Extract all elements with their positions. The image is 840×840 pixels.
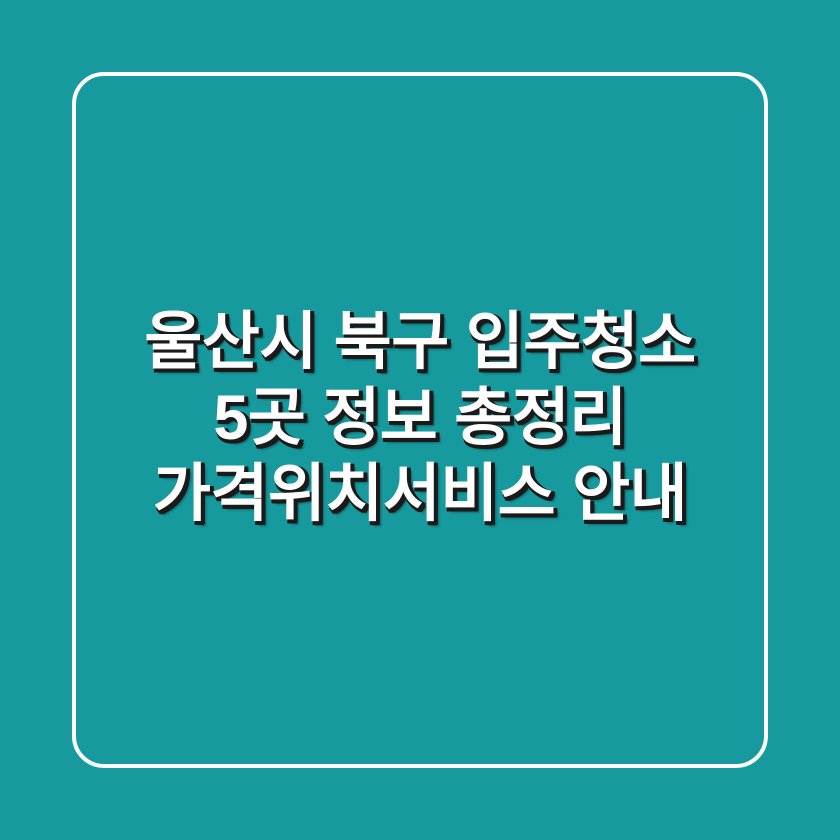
headline-line-2: 5곳 정보 총정리: [60, 380, 780, 456]
headline-line-1: 울산시 북구 입주청소: [60, 304, 780, 380]
thumbnail-card: 울산시 북구 입주청소 5곳 정보 총정리 가격위치서비스 안내: [0, 0, 840, 840]
headline-block: 울산시 북구 입주청소 5곳 정보 총정리 가격위치서비스 안내: [60, 304, 780, 536]
headline-line-3: 가격위치서비스 안내: [60, 456, 780, 532]
